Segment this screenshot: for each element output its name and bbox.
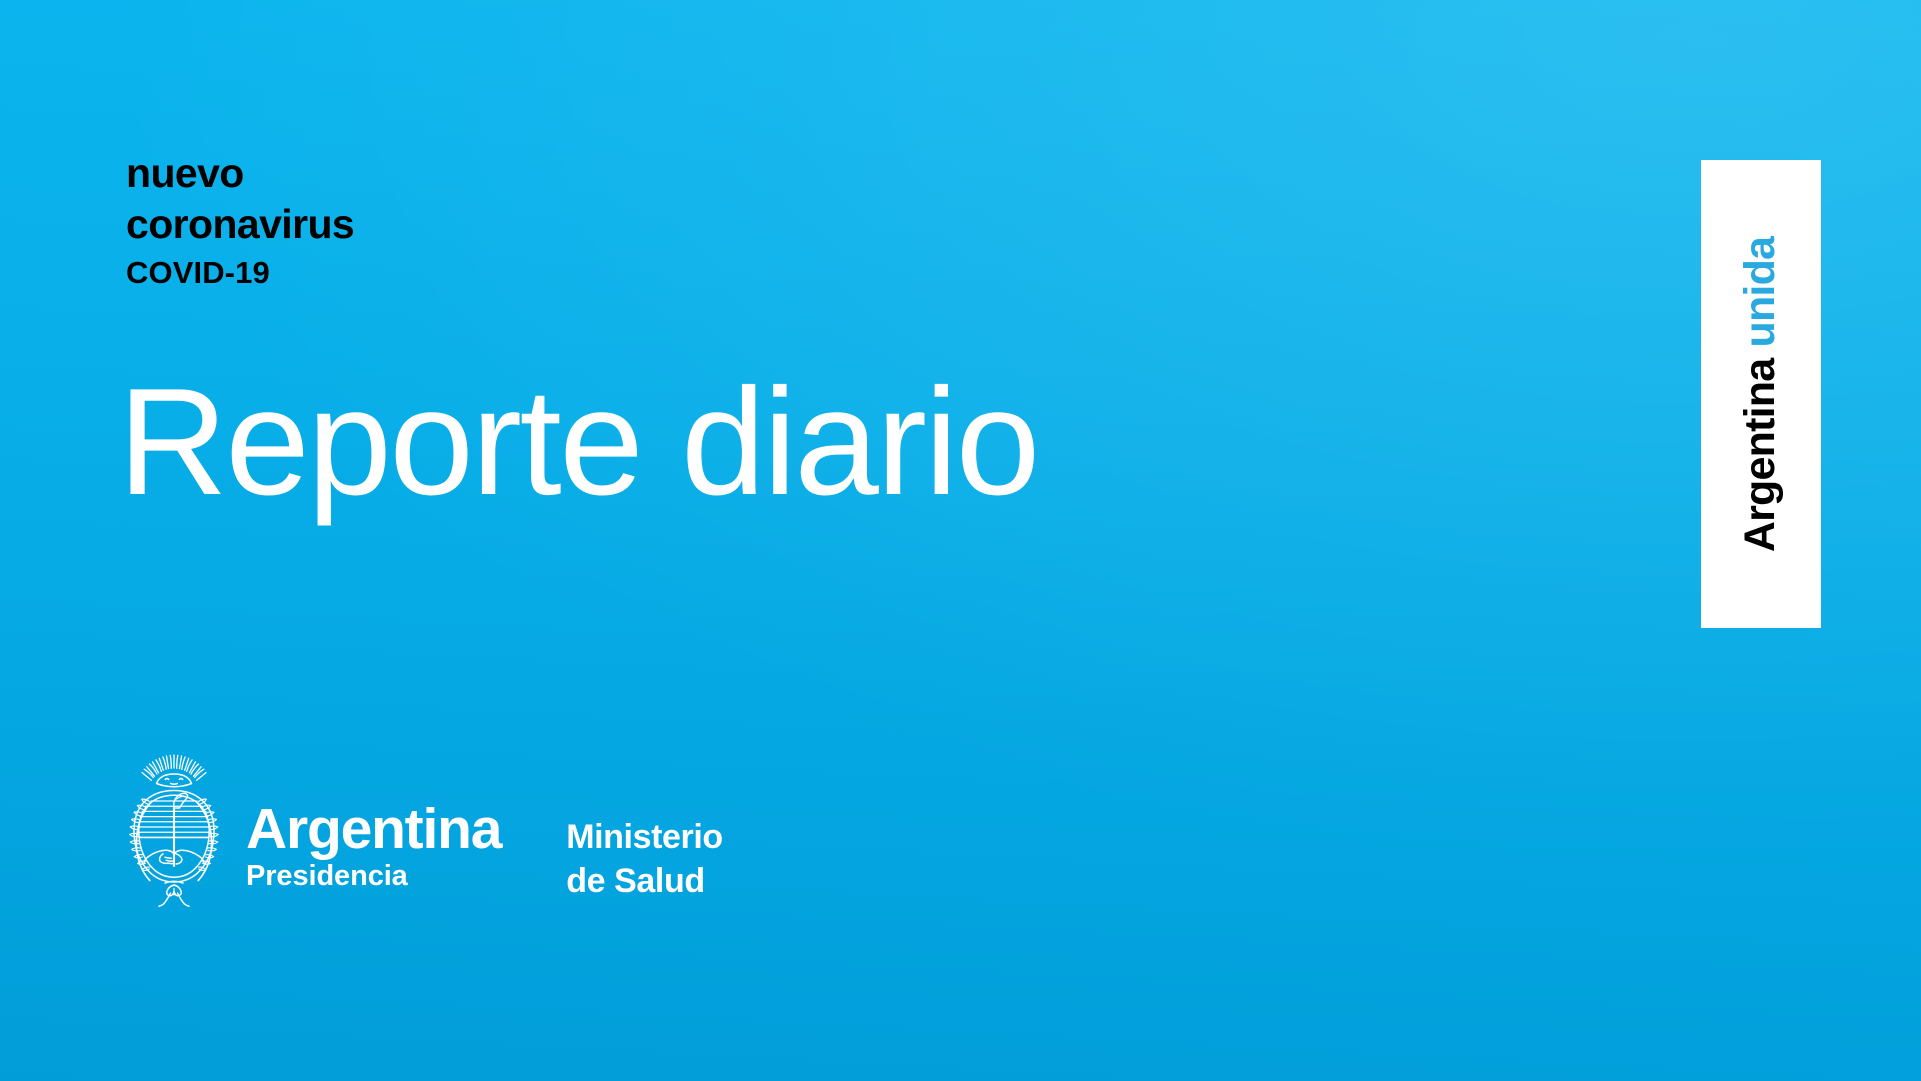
government-names: Argentina Presidencia Ministerio de Salu… <box>246 783 723 903</box>
government-lockup: Argentina Presidencia Ministerio de Salu… <box>118 752 723 934</box>
gov-country-label: Argentina <box>246 801 501 857</box>
covid-wordmark-line-coronavirus: coronavirus <box>126 199 354 250</box>
argentina-unida-space <box>1737 347 1785 358</box>
presidencia-block: Argentina Presidencia <box>246 783 501 895</box>
page-title-space <box>641 357 681 527</box>
argentina-unida-label: Argentina unida <box>1740 236 1783 551</box>
argentina-unida-united: unida <box>1737 236 1785 347</box>
gov-branch-label: Presidencia <box>246 857 501 895</box>
covid-wordmark: nuevo coronavirus COVID-19 <box>126 148 354 296</box>
page-title: Reporte diario <box>118 366 1038 518</box>
report-cover-page: nuevo coronavirus COVID-19 Reporte diari… <box>0 0 1921 1081</box>
page-title-word-strong: Reporte <box>118 357 641 527</box>
covid-wordmark-code: COVID-19 <box>126 250 354 296</box>
ministry-label-line2: de Salud <box>566 859 723 903</box>
argentina-unida-badge: Argentina unida <box>1701 160 1821 628</box>
ministry-label-line1: Ministerio <box>566 815 723 859</box>
ministry-block: Ministerio de Salud <box>566 783 723 903</box>
covid-wordmark-line-nuevo: nuevo <box>126 148 354 199</box>
argentina-unida-country: Argentina <box>1737 358 1785 551</box>
page-title-word-light: diario <box>681 357 1038 527</box>
argentina-coat-of-arms-icon <box>118 752 230 934</box>
